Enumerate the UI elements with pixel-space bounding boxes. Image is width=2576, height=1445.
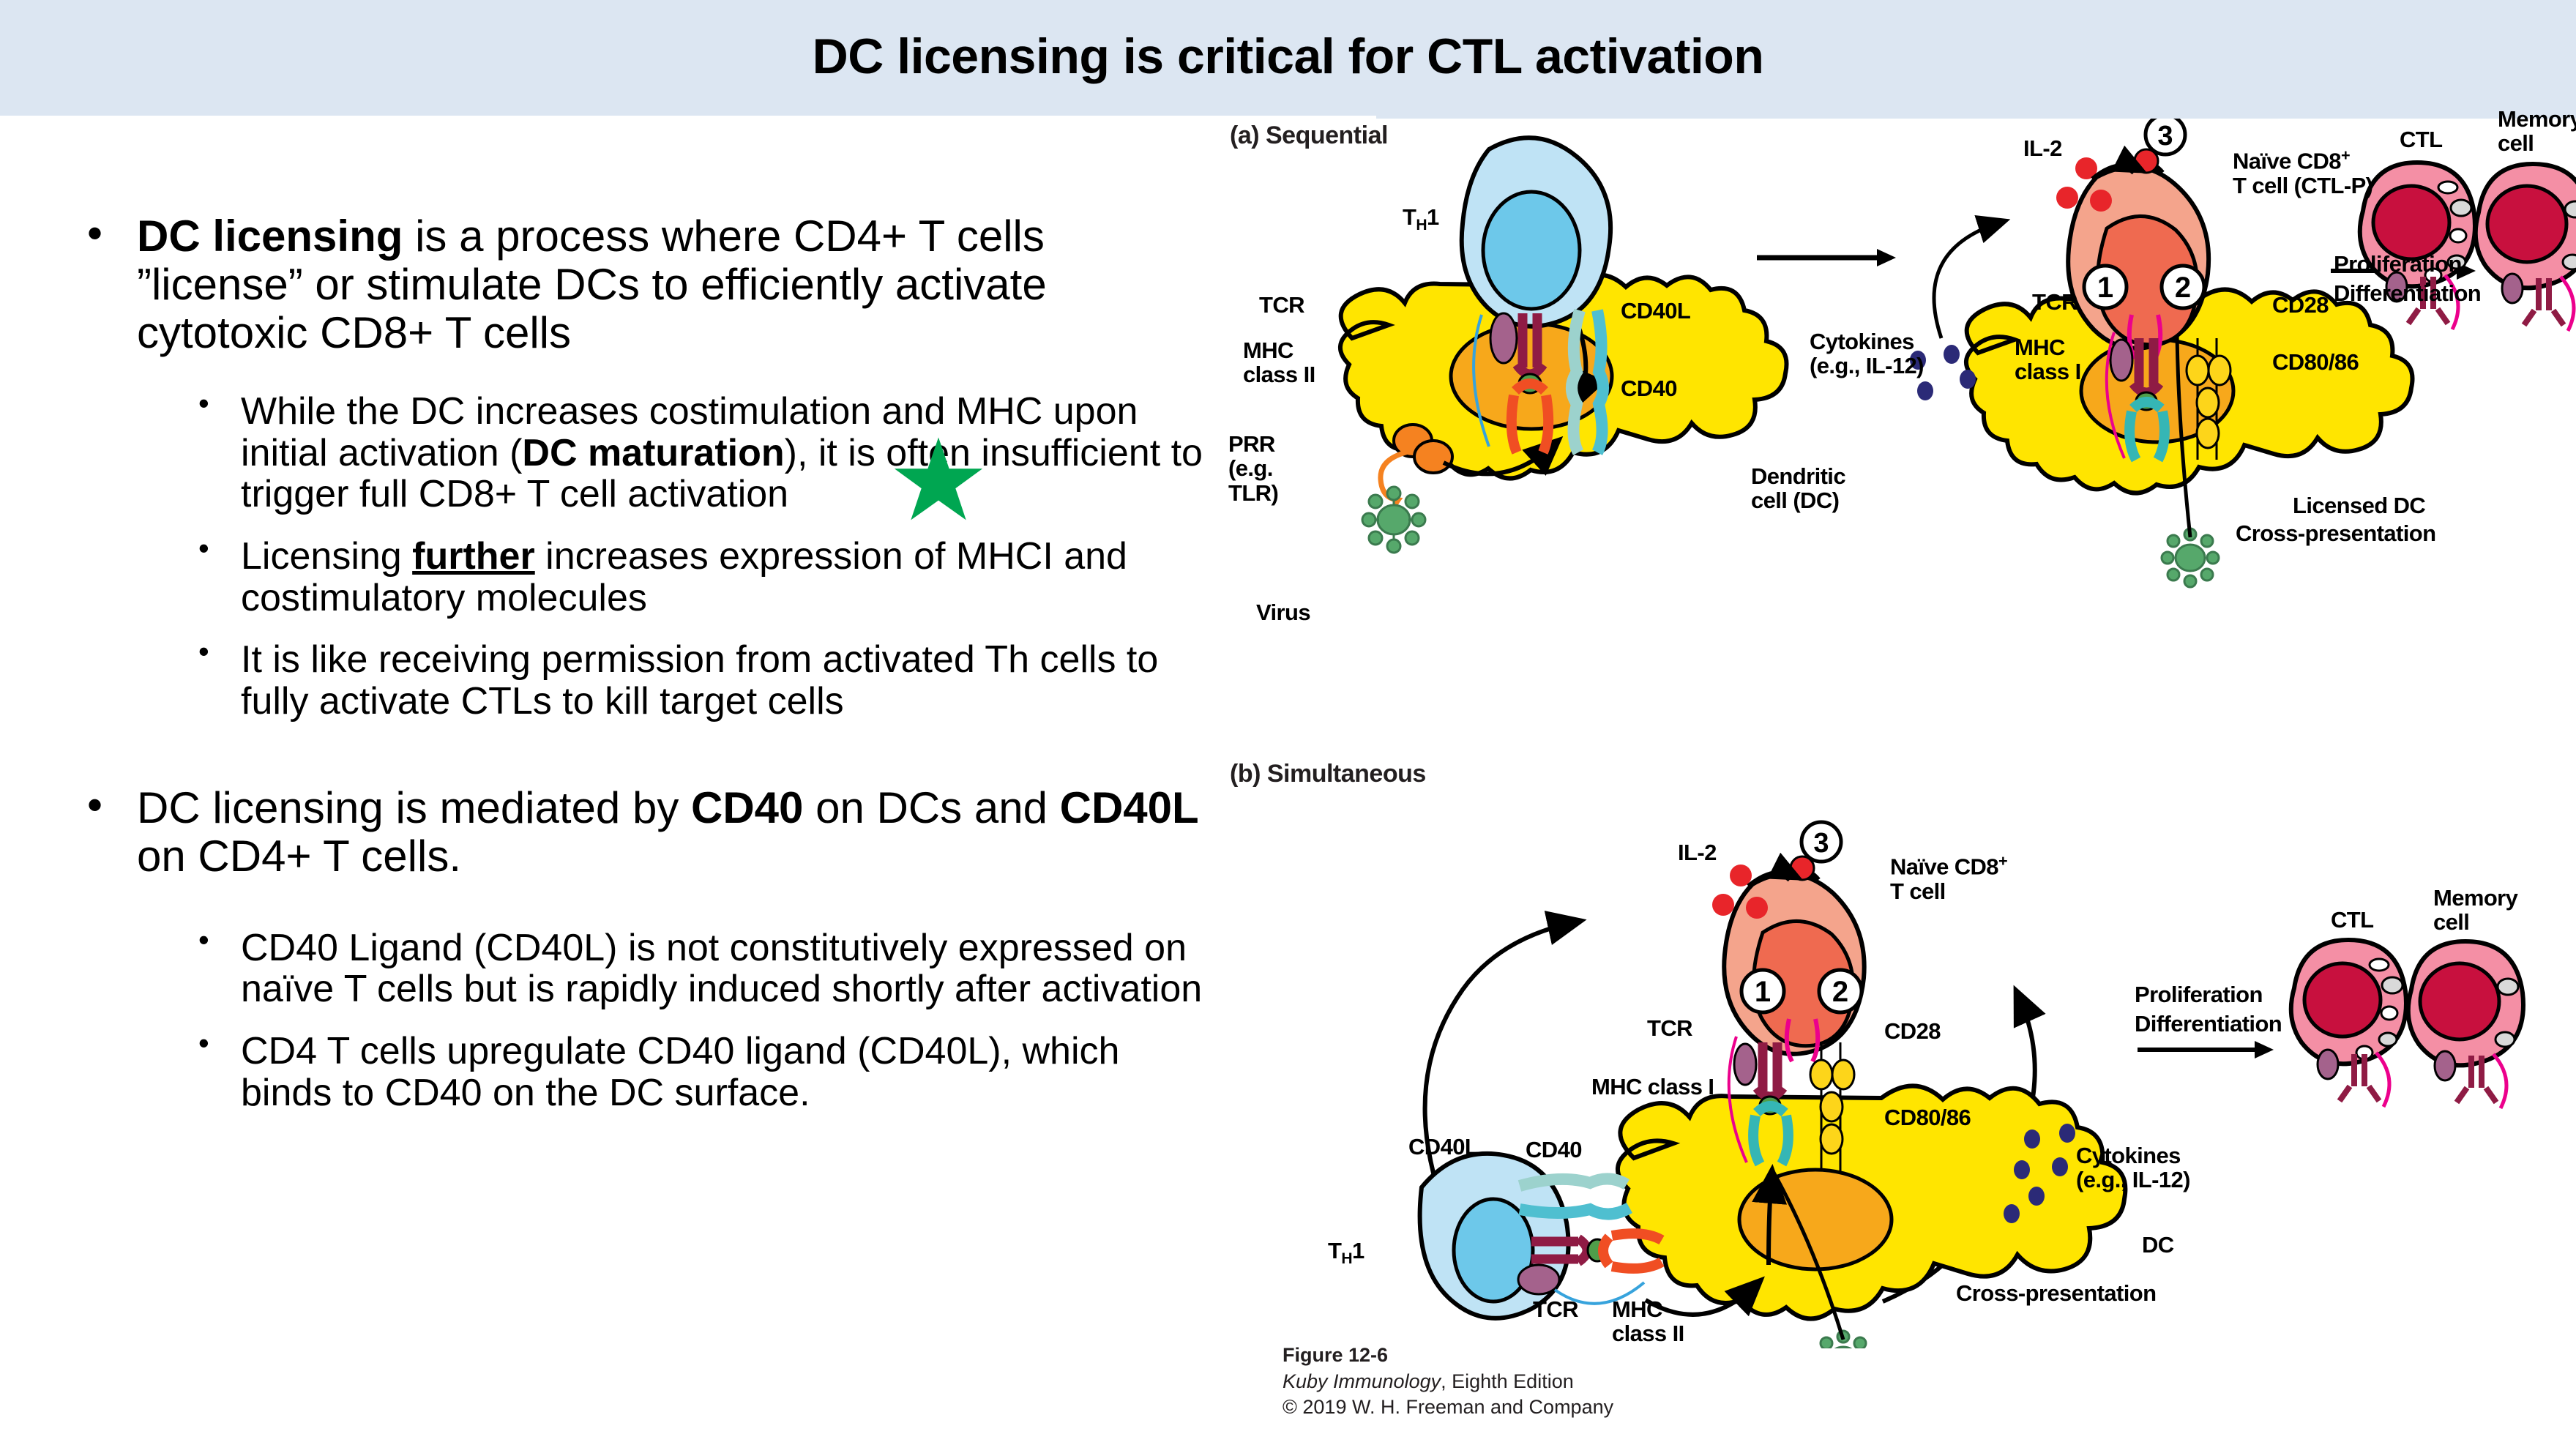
sub-bullet-cd40l-not-constitutive: CD40 Ligand (CD40L) is not constitutivel… [184, 927, 1219, 1010]
content-column: DC licensing is a process where CD4+ T c… [77, 212, 1219, 1113]
sub1-bold: DC maturation [522, 432, 784, 474]
label-cytokines-panel-b: Cytokines(e.g., IL-12) [2076, 1143, 2190, 1192]
label-cd40l-panel-b: CD40L [1408, 1135, 1478, 1159]
bullet2-part-c: on CD4+ T cells. [137, 832, 461, 881]
panel-b-step-3: 3 [1813, 828, 1829, 859]
proliferation-arrow-panel-b [2138, 1041, 2274, 1058]
label-tcr-panel-b: TCR [1647, 1016, 1692, 1040]
page-title: DC licensing is critical for CTL activat… [0, 28, 2576, 85]
caption-figure-number: Figure 12-6 [1283, 1343, 1868, 1369]
label-differentiation-panel-a: Differentiation [2334, 281, 2481, 305]
panel-a-graphic: 1 2 3 [1224, 119, 2576, 675]
bullet2-part-b: on DCs and [803, 783, 1059, 832]
slide-root: DC licensing is critical for CTL activat… [0, 0, 2576, 1445]
label-naive-cd8-panel-b: Naïve CD8+T cell [1890, 852, 2007, 903]
label-licensed-dc-panel-a: Licensed DC [2293, 493, 2425, 518]
label-cd28-panel-b: CD28 [1884, 1019, 1941, 1043]
label-il2-panel-a: IL-2 [2023, 136, 2062, 160]
sub-bullet-group-2: CD40 Ligand (CD40L) is not constitutivel… [184, 927, 1219, 1114]
label-cd8086-panel-b: CD80/86 [1884, 1105, 1971, 1130]
th1-cell-panel-a [1462, 138, 1610, 326]
label-cross-presentation-panel-a: Cross-presentation [2236, 521, 2435, 545]
panel-a-step-1: 1 [2097, 272, 2113, 304]
panel-a-transition-arrow [1757, 249, 1896, 266]
label-dc-panel-b: DC [2142, 1233, 2174, 1257]
caption-copyright: © 2019 W. H. Freeman and Company [1283, 1394, 1868, 1421]
caption-book-title: Kuby Immunology [1283, 1370, 1441, 1392]
panel-b-step-1: 1 [1755, 976, 1771, 1008]
label-th1-panel-b: TH1 [1328, 1239, 1364, 1268]
label-cd40l-panel-a: CD40L [1621, 299, 1690, 323]
bullet2-part-a: DC licensing is mediated by [137, 783, 691, 832]
virus-icon-panel-a [1362, 487, 1425, 553]
label-tcr2-panel-a: TCR [2032, 290, 2077, 314]
caption-source: Kuby Immunology, Eighth Edition [1283, 1369, 1868, 1395]
label-ctl-panel-b: CTL [2331, 908, 2373, 932]
memory-cell-panel-b [2408, 941, 2523, 1108]
label-cd28-panel-a: CD28 [2272, 293, 2329, 317]
label-th1-panel-a: TH1 [1403, 205, 1439, 234]
label-cd40-panel-a: CD40 [1621, 376, 1677, 400]
panel-a-step-3: 3 [2157, 121, 2173, 152]
label-memory-cell-panel-b: Memorycell [2433, 886, 2517, 935]
label-ctl-panel-a: CTL [2400, 127, 2442, 152]
memory-cell-panel-a [2476, 164, 2576, 331]
label-tcr2-panel-b: TCR [1533, 1297, 1578, 1321]
caption-edition: , Eighth Edition [1441, 1370, 1574, 1392]
figure-kuby-12-6: (a) Sequential [1224, 119, 2576, 1445]
label-il2-panel-b: IL-2 [1678, 840, 1717, 865]
label-mhc-class-i-panel-b: MHC class I [1591, 1075, 1714, 1099]
label-mhc-class-ii-panel-a: MHCclass II [1243, 338, 1315, 387]
label-naive-cd8-panel-a: Naïve CD8+T cell (CTL-P) [2233, 146, 2372, 198]
bullet-dc-licensing-definition: DC licensing is a process where CD4+ T c… [77, 212, 1219, 357]
sub-bullet-dc-maturation: While the DC increases costimulation and… [184, 391, 1219, 515]
label-prr-panel-a: PRR(e.g.TLR) [1228, 432, 1278, 505]
bullet2-bold-cd40: CD40 [691, 783, 803, 832]
label-proliferation-panel-b: Proliferation [2135, 982, 2263, 1007]
green-star-icon [893, 436, 984, 526]
label-cross-presentation-panel-b: Cross-presentation [1956, 1281, 2156, 1305]
panel-b-step-2: 2 [1832, 976, 1848, 1008]
label-cd8086-panel-a: CD80/86 [2272, 350, 2359, 374]
label-differentiation-panel-b: Differentiation [2135, 1012, 2282, 1036]
sub2-part-a: Licensing [241, 535, 412, 578]
label-mhc-class-i-panel-a: MHCclass I [2015, 335, 2081, 384]
label-cd40-panel-b: CD40 [1526, 1138, 1582, 1162]
label-dendritic-cell-panel-a: Dendriticcell (DC) [1751, 464, 1845, 513]
label-memory-cell-panel-a: Memorycell [2498, 107, 2576, 156]
bullet1-bold-lead: DC licensing [137, 212, 403, 261]
label-tcr-panel-a: TCR [1259, 293, 1304, 317]
bullet2-bold-cd40l: CD40L [1060, 783, 1199, 832]
sub-bullet-group-1: While the DC increases costimulation and… [184, 391, 1219, 722]
label-virus-panel-a: Virus [1256, 600, 1310, 624]
panel-a-step-2: 2 [2175, 272, 2191, 304]
label-cytokines-panel-a: Cytokines(e.g., IL-12) [1810, 329, 1924, 378]
sub-bullet-cd40l-upregulation: CD4 T cells upregulate CD40 ligand (CD40… [184, 1031, 1219, 1113]
figure-caption: Figure 12-6 Kuby Immunology, Eighth Edit… [1283, 1343, 1868, 1421]
naive-cd8-tcell-panel-b: 1 2 [1724, 874, 1864, 1061]
label-mhc-class-ii-panel-b: MHCclass II [1612, 1297, 1684, 1346]
sub2-bold-underline: further [412, 535, 535, 578]
sub-bullet-permission-analogy: It is like receiving permission from act… [184, 639, 1219, 722]
bullet-cd40-mediated: DC licensing is mediated by CD40 on DCs … [77, 784, 1219, 881]
label-proliferation-panel-a: Proliferation [2334, 252, 2462, 276]
ctl-cell-panel-b [2291, 940, 2406, 1107]
sub-bullet-licensing-further: Licensing further increases expression o… [184, 536, 1219, 619]
